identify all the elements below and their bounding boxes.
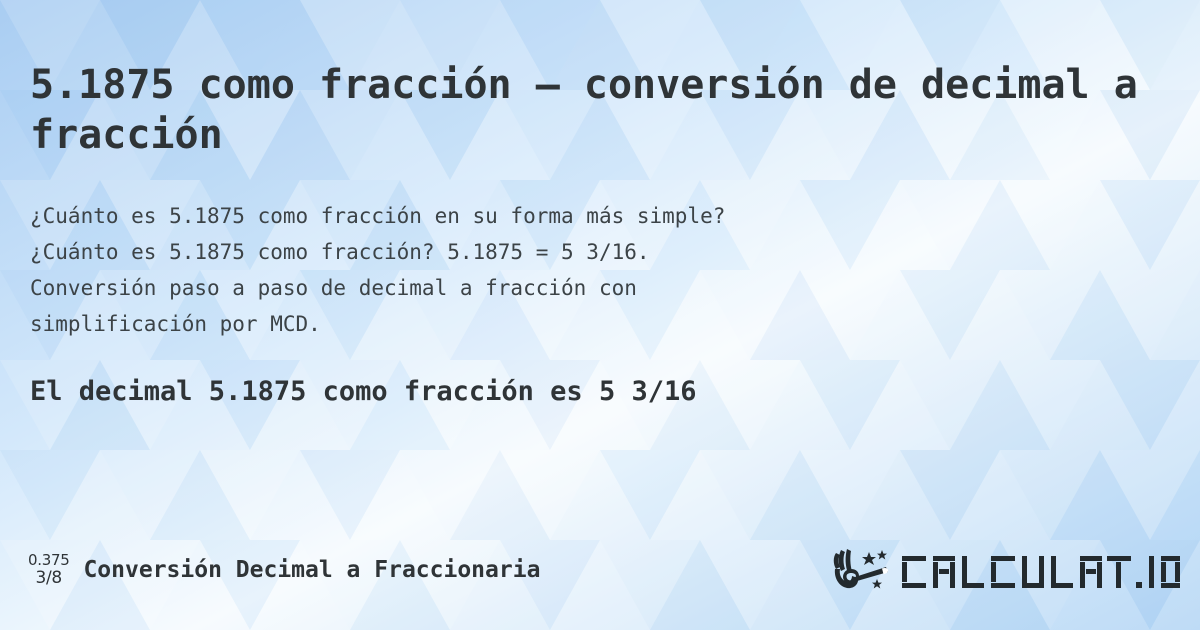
page-description: ¿Cuánto es 5.1875 como fracción en su fo… (30, 198, 1140, 342)
site-logo[interactable] (830, 547, 1182, 593)
fraction-icon-fraction: 3/8 (35, 569, 61, 588)
footer-label: Conversión Decimal a Fraccionaria (83, 557, 540, 583)
brand-wordmark (900, 550, 1182, 590)
footer: 0.375 3/8 Conversión Decimal a Fracciona… (0, 545, 1200, 605)
answer-statement: El decimal 5.1875 como fracción es 5 3/1… (30, 375, 696, 409)
og-card: 5.1875 como fracción – conversión de dec… (0, 0, 1200, 630)
hand-magic-wand-icon (830, 547, 896, 593)
footer-brand-left: 0.375 3/8 Conversión Decimal a Fracciona… (28, 545, 540, 595)
calculatio-logo-text (900, 550, 1182, 590)
fraction-icon-decimal: 0.375 (28, 552, 69, 569)
decimal-fraction-icon: 0.375 3/8 (28, 552, 69, 588)
page-title: 5.1875 como fracción – conversión de dec… (30, 60, 1160, 160)
